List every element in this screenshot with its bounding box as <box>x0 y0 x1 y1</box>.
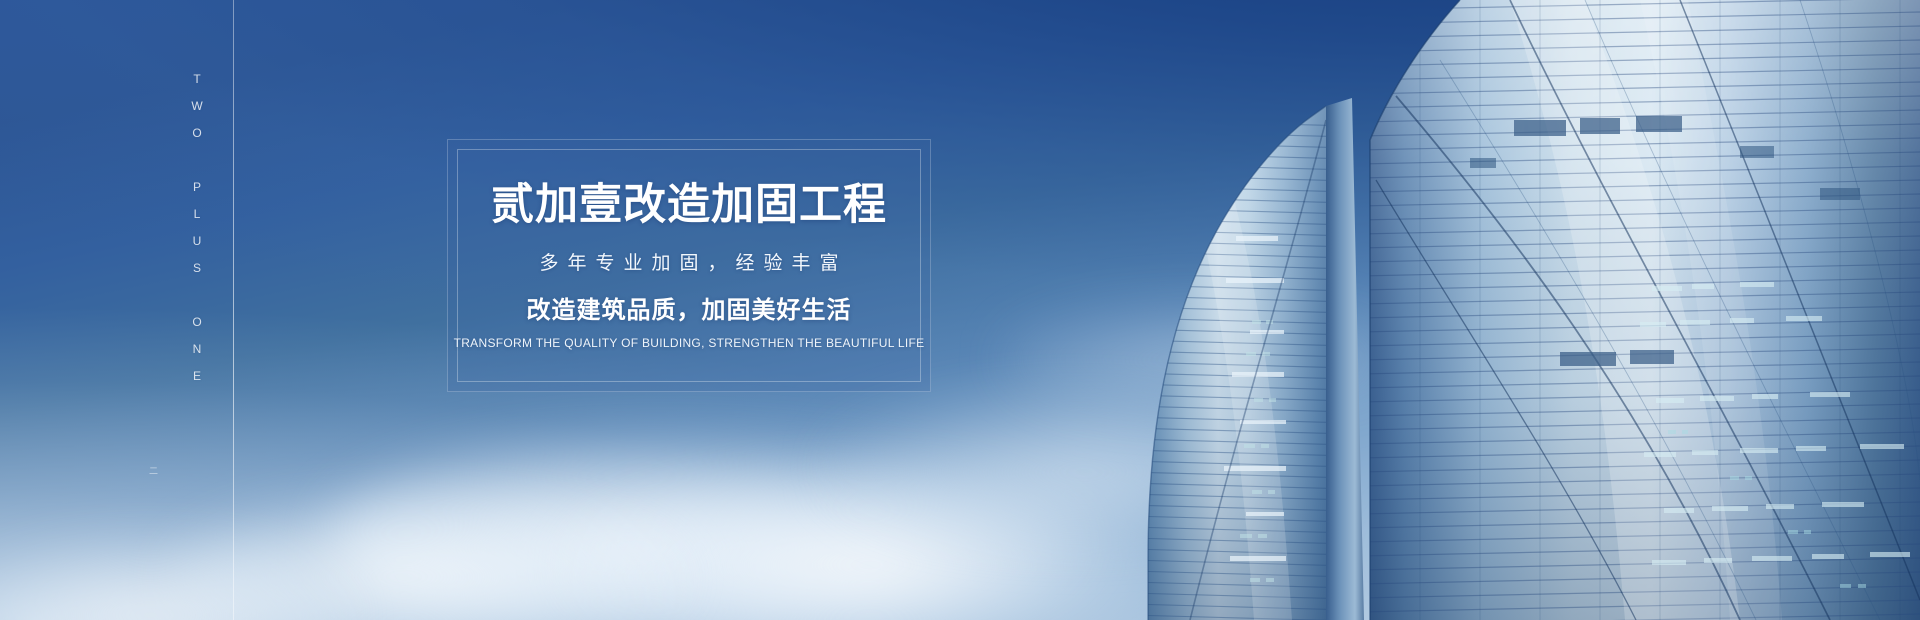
left-tower <box>1130 0 1350 620</box>
brand-mark-glyph: 二 <box>147 466 160 476</box>
hero-tagline-english: TRANSFORM THE QUALITY OF BUILDING, STREN… <box>454 337 925 349</box>
hero-tagline: 改造建筑品质，加固美好生活 <box>527 299 852 323</box>
hero-headline: 贰加壹改造加固工程 <box>491 184 887 227</box>
right-tower <box>1360 0 1920 620</box>
twin-towers-illustration <box>1040 0 1920 620</box>
hero-text-panel: 贰加壹改造加固工程 多年专业加固，经验丰富 改造建筑品质，加固美好生活 TRAN… <box>447 139 931 392</box>
panel-content: 贰加壹改造加固工程 多年专业加固，经验丰富 改造建筑品质，加固美好生活 TRAN… <box>448 140 930 391</box>
tower-spine <box>1320 0 1370 620</box>
hero-subline: 多年专业加固，经验丰富 <box>530 254 847 273</box>
vertical-divider-line <box>233 0 234 620</box>
brand-strip: TWO PLUS ONE 二 <box>0 0 260 620</box>
brand-vertical-text: TWO PLUS ONE <box>191 72 203 396</box>
hero-banner: TWO PLUS ONE 二 贰加壹改造加固工程 多年专业加固，经验丰富 改造建… <box>0 0 1920 620</box>
